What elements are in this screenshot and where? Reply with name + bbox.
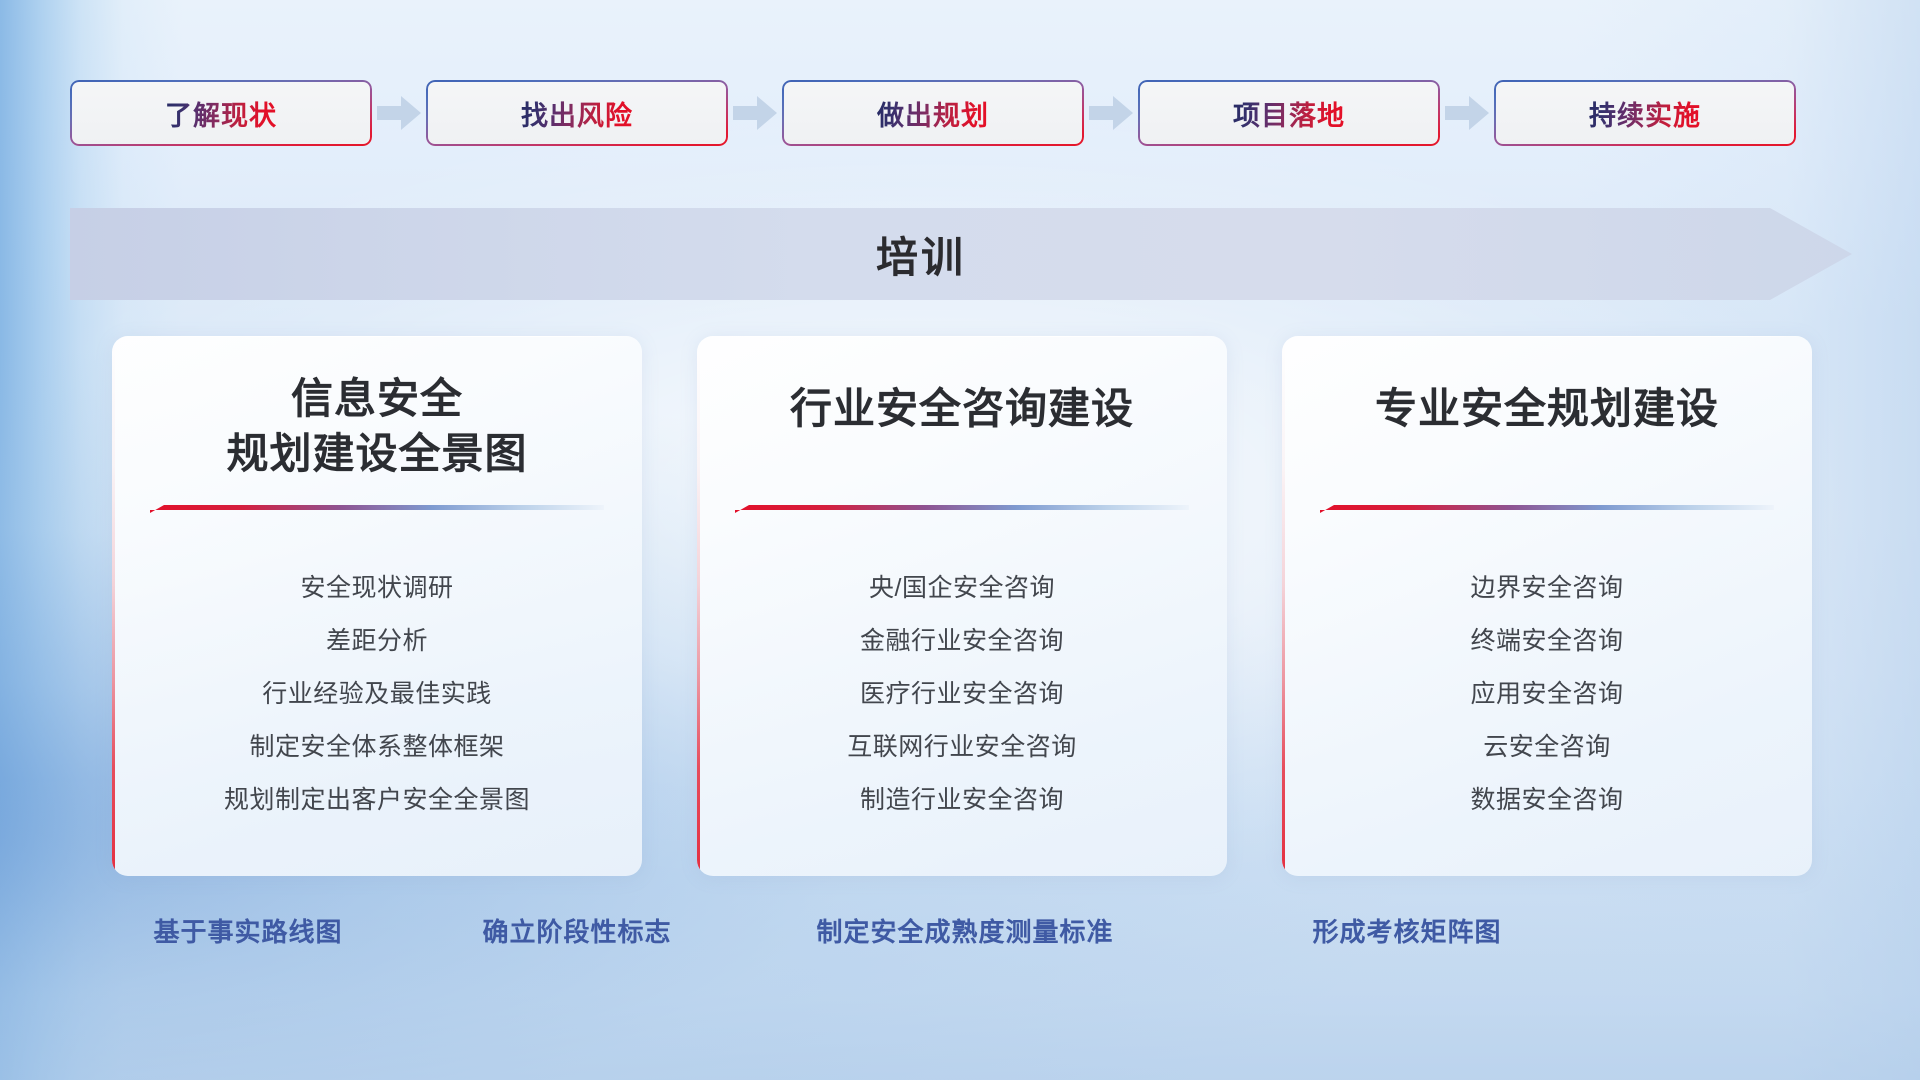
card-title-line: 规划建设全景图 — [130, 427, 624, 482]
card-item-list: 边界安全咨询 终端安全咨询 应用安全咨询 云安全咨询 数据安全咨询 — [1282, 576, 1812, 813]
process-step-row: 了解现状 找出风险 做出规划 项目落地 — [70, 78, 1850, 148]
card-divider — [735, 504, 1189, 513]
card-list-item: 数据安全咨询 — [1282, 788, 1812, 813]
step-chip-label: 了解现状 — [165, 94, 277, 133]
card-list-item: 边界安全咨询 — [1282, 576, 1812, 601]
step-chip-2[interactable]: 找出风险 — [426, 80, 728, 146]
step-chip-3[interactable]: 做出规划 — [782, 80, 1084, 146]
card-info-security-blueprint[interactable]: 信息安全 规划建设全景图 — [112, 336, 642, 876]
slide-canvas: 了解现状 找出风险 做出规划 项目落地 — [0, 0, 1920, 1080]
card-title-line: 行业安全咨询建设 — [715, 382, 1209, 437]
card-list-item: 金融行业安全咨询 — [697, 629, 1227, 654]
chevron-right-arrow-icon — [1084, 80, 1138, 146]
footnote-label: 基于事实路线图 — [153, 912, 342, 949]
step-chip-1[interactable]: 了解现状 — [70, 80, 372, 146]
card-list-item: 互联网行业安全咨询 — [697, 735, 1227, 760]
step-chip-4[interactable]: 项目落地 — [1138, 80, 1440, 146]
banner-title: 培训 — [70, 208, 1772, 300]
card-list-item: 制定安全体系整体框架 — [112, 735, 642, 760]
chevron-right-arrow-icon — [372, 80, 426, 146]
footnote-label: 形成考核矩阵图 — [1312, 912, 1501, 949]
footnote-row: 基于事实路线图 确立阶段性标志 制定安全成熟度测量标准 形成考核矩阵图 — [0, 912, 1920, 956]
card-professional-security-planning[interactable]: 专业安全规划建设 — [1282, 336, 1812, 876]
card-title: 专业安全规划建设 — [1282, 382, 1812, 437]
card-list-item: 规划制定出客户安全全景图 — [112, 788, 642, 813]
step-chip-5[interactable]: 持续实施 — [1494, 80, 1796, 146]
step-chip-label: 做出规划 — [877, 94, 989, 133]
card-list-item: 医疗行业安全咨询 — [697, 682, 1227, 707]
step-chip-label: 持续实施 — [1589, 94, 1701, 133]
card-title: 信息安全 规划建设全景图 — [112, 372, 642, 481]
chevron-right-arrow-icon — [1440, 80, 1494, 146]
card-list-item: 制造行业安全咨询 — [697, 788, 1227, 813]
card-title: 行业安全咨询建设 — [697, 382, 1227, 437]
card-list-item: 终端安全咨询 — [1282, 629, 1812, 654]
card-item-list: 央/国企安全咨询 金融行业安全咨询 医疗行业安全咨询 互联网行业安全咨询 制造行… — [697, 576, 1227, 813]
card-row: 信息安全 规划建设全景图 — [112, 336, 1812, 876]
card-list-item: 安全现状调研 — [112, 576, 642, 601]
step-chip-label: 项目落地 — [1233, 94, 1345, 133]
card-industry-security-consulting[interactable]: 行业安全咨询建设 — [697, 336, 1227, 876]
card-item-list: 安全现状调研 差距分析 行业经验及最佳实践 制定安全体系整体框架 规划制定出客户… — [112, 576, 642, 813]
card-list-item: 应用安全咨询 — [1282, 682, 1812, 707]
card-divider — [150, 504, 604, 513]
training-banner: 培训 — [70, 208, 1852, 300]
card-list-item: 央/国企安全咨询 — [697, 576, 1227, 601]
card-list-item: 差距分析 — [112, 629, 642, 654]
card-divider — [1320, 504, 1774, 513]
card-list-item: 云安全咨询 — [1282, 735, 1812, 760]
card-title-line: 信息安全 — [130, 372, 624, 427]
chevron-right-arrow-icon — [728, 80, 782, 146]
card-title-line: 专业安全规划建设 — [1300, 382, 1794, 437]
step-chip-label: 找出风险 — [521, 94, 633, 133]
footnote-label: 制定安全成熟度测量标准 — [816, 912, 1113, 949]
card-list-item: 行业经验及最佳实践 — [112, 682, 642, 707]
footnote-label: 确立阶段性标志 — [482, 912, 671, 949]
